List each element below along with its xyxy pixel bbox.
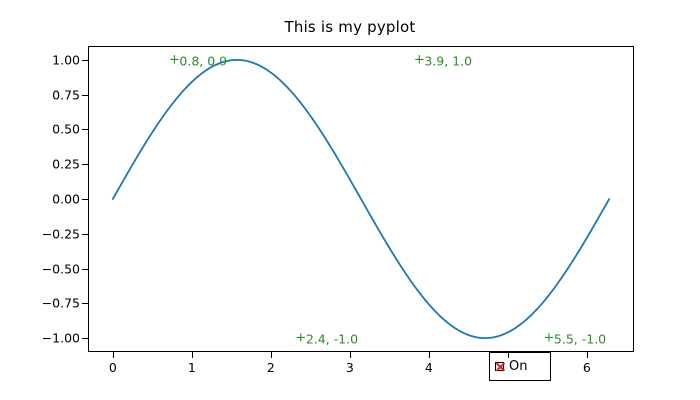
y-tick-mark [82,338,88,339]
check-buttons-widget[interactable]: On [489,352,551,381]
x-tick-mark [429,352,430,358]
y-tick-mark [82,95,88,96]
checkbox-label: On [509,359,527,374]
y-tick-mark [82,60,88,61]
x-tick-label: 0 [109,360,117,375]
y-tick-label: 0.50 [52,122,80,137]
y-tick-label: 0.25 [52,157,80,172]
page-title: This is my pyplot [0,18,700,36]
x-tick-mark [192,352,193,358]
matplotlib-figure: This is my pyplot 1.000.750.500.250.00−0… [0,0,700,400]
y-tick-label: −0.75 [42,296,80,311]
annotation-marker: + [295,332,306,345]
x-tick-label: 2 [267,360,275,375]
y-tick-mark [82,269,88,270]
y-tick-label: −1.00 [42,331,80,346]
y-tick-mark [82,164,88,165]
annotation-label: 5.5, -1.0 [554,332,606,347]
annotation-label: 3.9, 1.0 [424,53,472,68]
annotation-marker: + [543,332,554,345]
x-tick-label: 4 [425,360,433,375]
y-tick-label: 0.00 [52,192,80,207]
y-tick-mark [82,199,88,200]
annotation-label: 0.8, 0.9 [179,53,227,68]
x-tick-mark [350,352,351,358]
x-tick-mark [508,352,509,358]
annotation-label: 2.4, -1.0 [306,332,358,347]
x-tick-mark [587,352,588,358]
y-tick-label: −0.25 [42,226,80,241]
checkbox-on-icon[interactable] [495,362,504,371]
y-tick-label: 0.75 [52,87,80,102]
x-tick-mark [113,352,114,358]
y-tick-mark [82,303,88,304]
x-tick-label: 6 [583,360,591,375]
y-tick-label: 1.00 [52,52,80,67]
annotation-marker: + [414,53,425,66]
plot-canvas [88,46,634,352]
y-tick-mark [82,129,88,130]
x-tick-label: 1 [188,360,196,375]
sine-curve [113,60,609,338]
x-tick-mark [271,352,272,358]
y-axis-tick-labels: 1.000.750.500.250.00−0.25−0.50−0.75−1.00 [32,46,80,352]
y-tick-label: −0.50 [42,261,80,276]
plot-axes [88,46,634,352]
x-axis-tick-labels: 0123456 [0,360,700,380]
y-tick-mark [82,234,88,235]
annotation-marker: + [169,53,180,66]
x-tick-label: 3 [346,360,354,375]
